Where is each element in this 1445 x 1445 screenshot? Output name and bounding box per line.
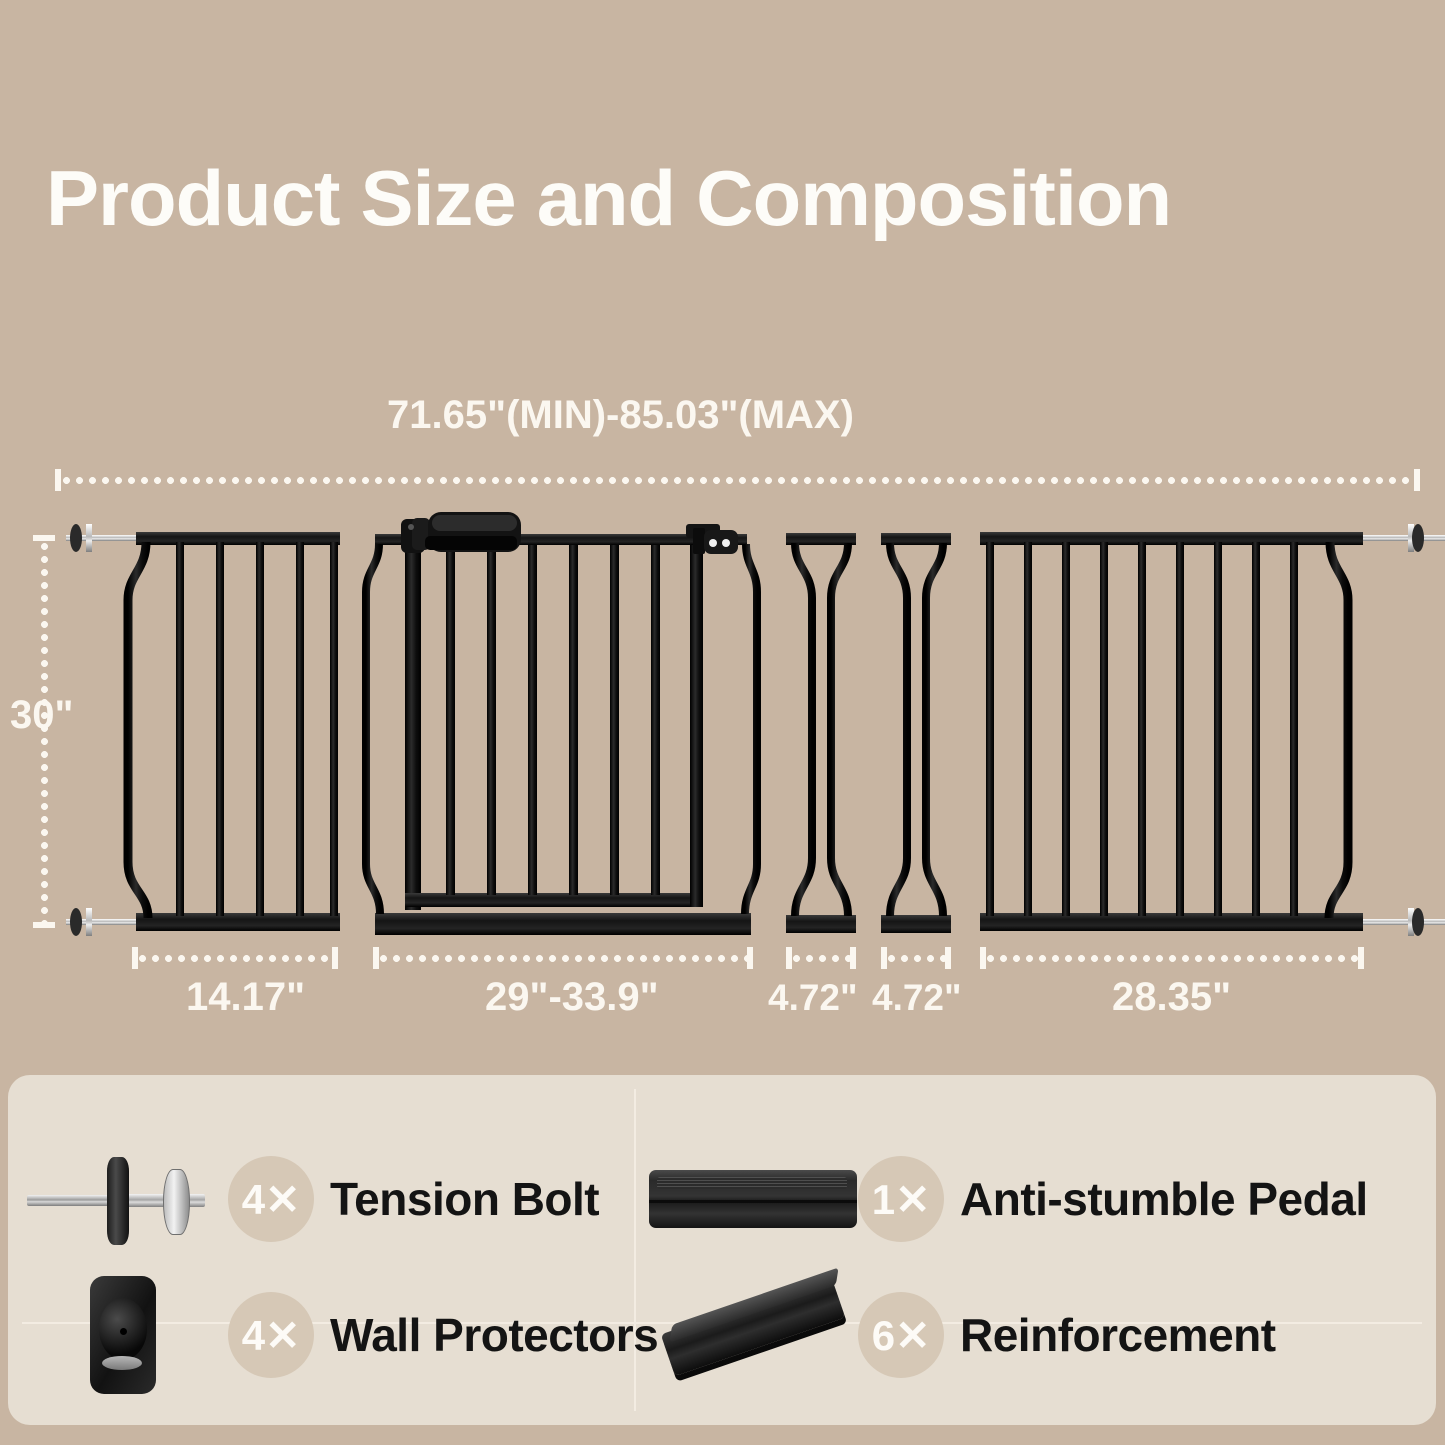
infographic-root: Product Size and Composition 71.65"(MIN)…	[0, 0, 1445, 1445]
dimension-label-main-gate: 29"-33.9"	[485, 975, 659, 1020]
dimcap-small-l	[132, 947, 138, 969]
tension-bolt-icon	[18, 1124, 228, 1274]
component-label-reinforcement: Reinforcement	[960, 1308, 1276, 1362]
segment-spacer-right	[881, 533, 951, 933]
component-item-reinforcement: 6✕ Reinforcement	[648, 1255, 1438, 1415]
anti-stumble-pedal-icon	[648, 1124, 858, 1274]
component-item-wall-protectors: 4✕ Wall Protectors	[18, 1255, 618, 1415]
wall-protector-icon	[18, 1260, 228, 1410]
gate-latch-handle	[401, 512, 521, 553]
gate-hinge	[686, 524, 738, 554]
dimension-label-spacer-right: 4.72"	[872, 977, 962, 1019]
reinforcement-icon	[648, 1260, 858, 1410]
quantity-badge-tension-bolt: 4✕	[228, 1156, 314, 1242]
quantity-badge-anti-stumble-pedal: 1✕	[858, 1156, 944, 1242]
dimline-spacer-left	[790, 955, 852, 962]
dimension-label-extension-panel-large: 28.35"	[1112, 975, 1231, 1020]
tension-bolt-pin-bottom-right	[1362, 908, 1445, 936]
dimcap-small-r	[332, 947, 338, 969]
quantity-badge-wall-protectors: 4✕	[228, 1292, 314, 1378]
dimcap-sl-r	[850, 947, 856, 969]
dimension-label-spacer-left: 4.72"	[768, 977, 858, 1019]
dimline-extension-panel-large	[984, 955, 1360, 962]
tension-bolt-pin-top-right	[1362, 524, 1445, 552]
component-label-wall-protectors: Wall Protectors	[330, 1308, 658, 1362]
segment-main-gate	[366, 512, 757, 935]
dimcap-sr-l	[881, 947, 887, 969]
dimension-label-extension-panel-small: 14.17"	[186, 975, 305, 1020]
components-panel: 4✕ Tension Bolt 1✕ Anti-stumble Pedal 4✕…	[8, 1075, 1436, 1425]
dimcap-sr-r	[945, 947, 951, 969]
dimcap-large-l	[980, 947, 986, 969]
dimline-main-gate	[377, 955, 749, 962]
segment-spacer-left	[786, 533, 856, 933]
segment-extension-panel-small	[128, 532, 340, 931]
quantity-badge-reinforcement: 6✕	[858, 1292, 944, 1378]
component-label-tension-bolt: Tension Bolt	[330, 1172, 599, 1226]
component-label-anti-stumble-pedal: Anti-stumble Pedal	[960, 1172, 1368, 1226]
segment-extension-panel-large	[980, 532, 1363, 931]
dimcap-sl-l	[786, 947, 792, 969]
dimline-spacer-right	[885, 955, 947, 962]
dimcap-gate-r	[747, 947, 753, 969]
dimline-extension-panel-small	[136, 955, 334, 962]
panel-vertical-divider	[634, 1089, 636, 1411]
dimcap-large-r	[1358, 947, 1364, 969]
dimcap-gate-l	[373, 947, 379, 969]
